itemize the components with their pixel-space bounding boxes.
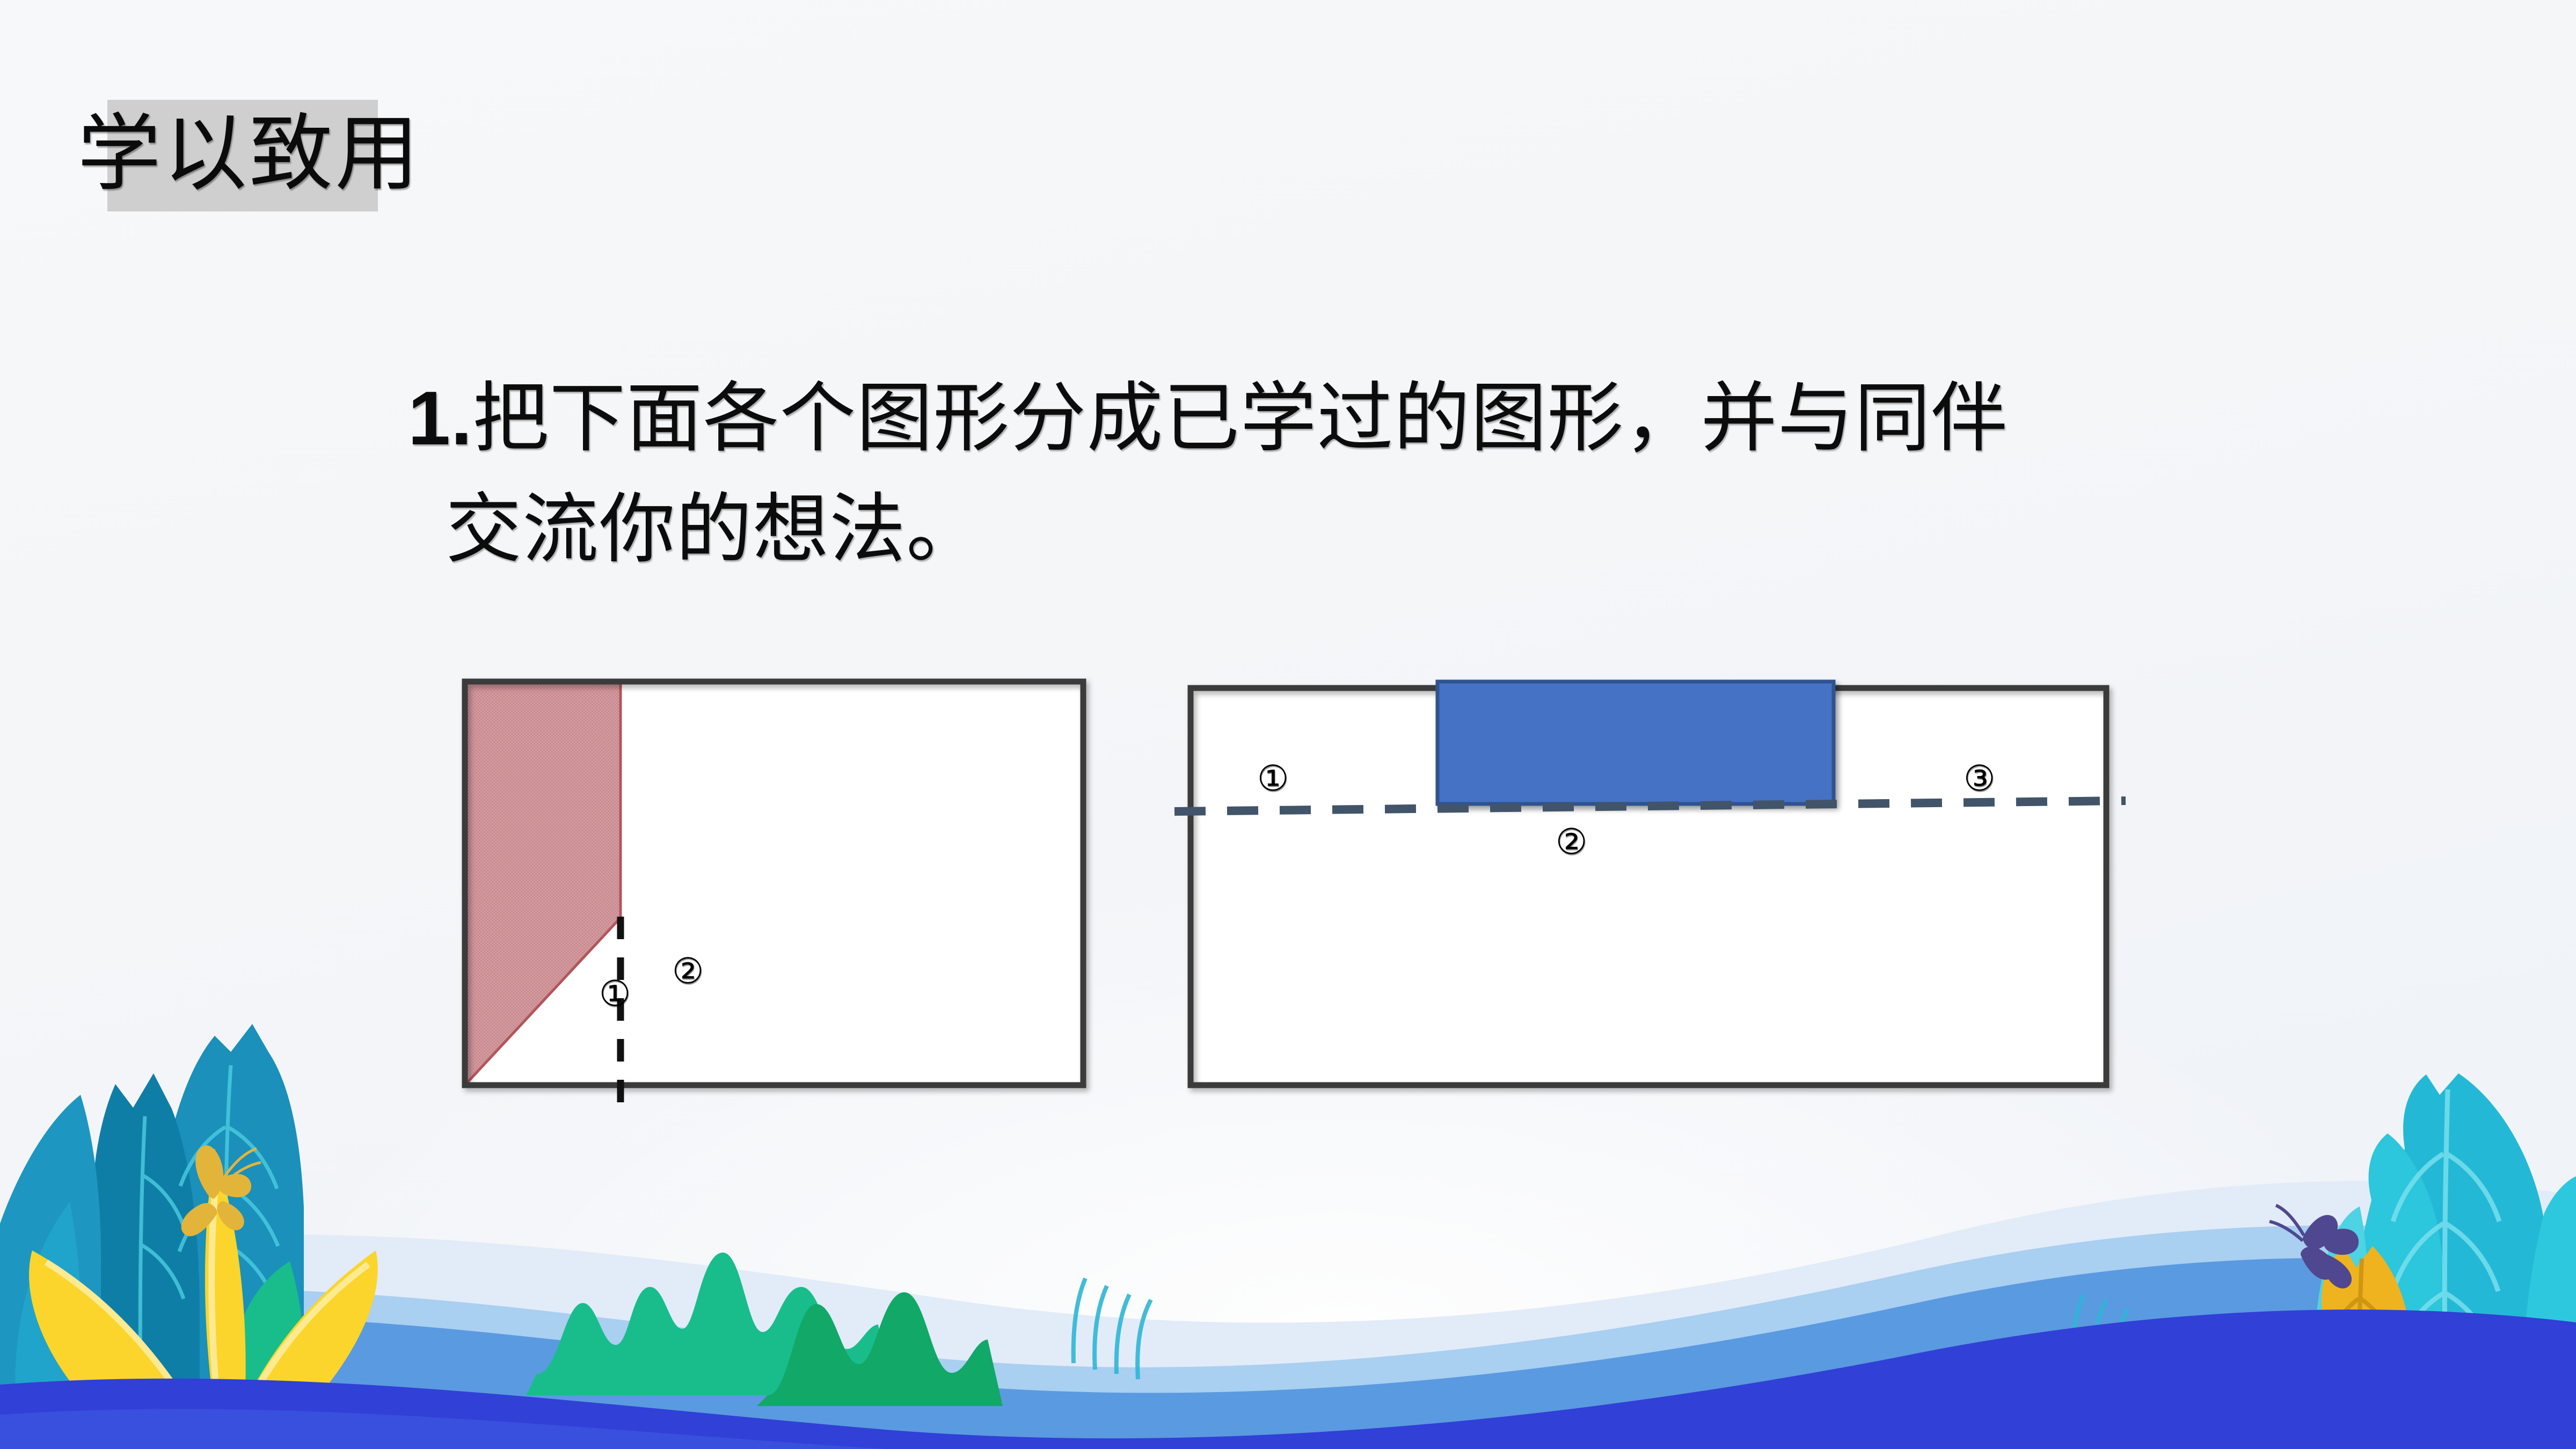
figure-right: ① ② ③ — [1170, 665, 2136, 1106]
label-region-2: ② — [672, 954, 704, 989]
label-region-1: ① — [1257, 761, 1289, 796]
page-title: 学以致用 — [110, 94, 389, 215]
label-region-3: ③ — [1964, 761, 1995, 796]
figure-left-graphic — [440, 665, 1106, 1106]
question-number: 1. — [408, 376, 472, 461]
figure-left: ① ② — [440, 665, 1106, 1106]
question-block: 1.把下面各个图形分成已学过的图形，并与同伴 交流你的想法。 — [408, 363, 2233, 586]
figure-right-graphic — [1170, 665, 2136, 1106]
blue-tab-rect — [1437, 682, 1834, 804]
label-region-1: ① — [599, 976, 631, 1012]
question-line-2: 交流你的想法。 — [408, 474, 2233, 586]
question-line-1: 把下面各个图形分成已学过的图形，并与同伴 — [472, 376, 2008, 461]
slide-canvas: 学以致用 1.把下面各个图形分成已学过的图形，并与同伴 交流你的想法。 — [0, 0, 2576, 1449]
label-region-2: ② — [1556, 824, 1587, 860]
